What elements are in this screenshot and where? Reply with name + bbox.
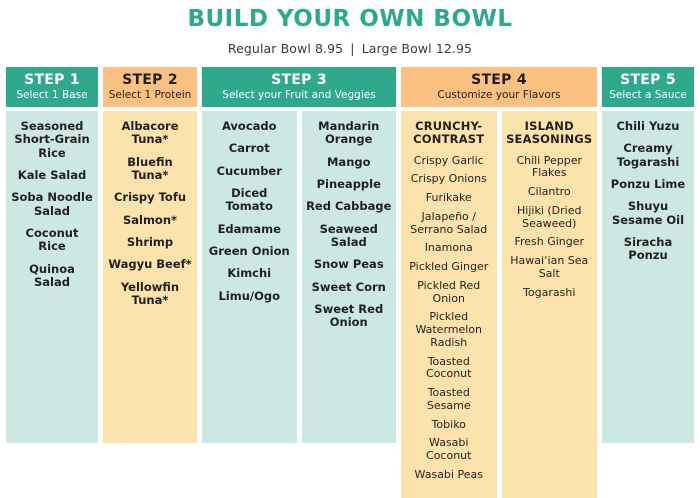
step-4-body: CRUNCHY-CONTRAST Crispy Garlic Crispy On… (401, 111, 597, 497)
list-item[interactable]: Pineapple (306, 178, 393, 191)
subsection-heading: ISLAND SEASONINGS (506, 120, 594, 146)
list-item[interactable]: Toasted Coconut (405, 356, 493, 382)
list-item[interactable]: Crispy Onions (405, 173, 493, 186)
list-item[interactable]: Kimchi (206, 267, 293, 280)
price-separator: | (347, 41, 357, 56)
list-item[interactable]: Pickled Watermelon Radish (405, 311, 493, 349)
step-5-name: STEP 5 (604, 72, 692, 88)
list-item[interactable]: Shuyu Sesame Oil (606, 200, 690, 227)
list-item[interactable]: Snow Peas (306, 258, 393, 271)
list-item[interactable]: Shrimp (107, 236, 193, 249)
list-item[interactable]: Limu/Ogo (206, 290, 293, 303)
list-item[interactable]: Creamy Togarashi (606, 142, 690, 169)
step-4-desc: Customize your Flavors (403, 89, 595, 101)
list-item[interactable]: Siracha Ponzu (606, 236, 690, 263)
step-2-name: STEP 2 (105, 72, 195, 88)
step-3-group-1: Mandarin Orange Mango Pineapple Red Cabb… (302, 111, 397, 443)
step-1-body: Seasoned Short-Grain Rice Kale Salad Sob… (6, 111, 98, 443)
step-header-3: STEP 3 Select your Fruit and Veggies (202, 67, 396, 107)
step-5-body: Chili Yuzu Creamy Togarashi Ponzu Lime S… (602, 111, 694, 443)
step-3-group-0: Avocado Carrot Cucumber Diced Tomato Eda… (202, 111, 297, 443)
list-item[interactable]: Ponzu Lime (606, 178, 690, 191)
step-header-5: STEP 5 Select a Sauce (602, 67, 694, 107)
subsection-heading: CRUNCHY-CONTRAST (405, 120, 493, 146)
list-item[interactable]: Fresh Ginger (506, 236, 594, 249)
list-item[interactable]: Chili Pepper Flakes (506, 155, 594, 181)
step-3-body: Avocado Carrot Cucumber Diced Tomato Eda… (202, 111, 396, 443)
step-3-name: STEP 3 (204, 72, 394, 88)
list-item[interactable]: Cilantro (506, 186, 594, 199)
step-column-3: STEP 3 Select your Fruit and Veggies Avo… (202, 67, 396, 443)
step-2-group-0: Albacore Tuna* Bluefin Tuna* Crispy Tofu… (103, 111, 197, 443)
list-item[interactable]: Toasted Sesame (405, 387, 493, 413)
list-item[interactable]: Pickled Ginger (405, 261, 493, 274)
list-item[interactable]: Wagyu Beef* (107, 258, 193, 271)
list-item[interactable]: Crispy Tofu (107, 191, 193, 204)
list-item[interactable]: Wasabi Coconut (405, 437, 493, 463)
step-column-2: STEP 2 Select 1 Protein Albacore Tuna* B… (103, 67, 197, 443)
step-header-1: STEP 1 Select 1 Base (6, 67, 98, 107)
step-3-desc: Select your Fruit and Veggies (204, 89, 394, 101)
step-1-group-0: Seasoned Short-Grain Rice Kale Salad Sob… (6, 111, 98, 443)
step-header-4: STEP 4 Customize your Flavors (401, 67, 597, 107)
step-5-group-0: Chili Yuzu Creamy Togarashi Ponzu Lime S… (602, 111, 694, 443)
list-item[interactable]: Avocado (206, 120, 293, 133)
list-item[interactable]: Tobiko (405, 419, 493, 432)
list-item[interactable]: Inamona (405, 242, 493, 255)
list-item[interactable]: Sweet Corn (306, 281, 393, 294)
step-4-name: STEP 4 (403, 72, 595, 88)
list-item[interactable]: Mandarin Orange (306, 120, 393, 147)
list-item[interactable]: Green Onion (206, 245, 293, 258)
list-item[interactable]: Coconut Rice (10, 227, 94, 254)
list-item[interactable]: Wasabi Peas (405, 469, 493, 482)
step-column-5: STEP 5 Select a Sauce Chili Yuzu Creamy … (602, 67, 694, 443)
list-item[interactable]: Pickled Red Onion (405, 280, 493, 306)
list-item[interactable]: Mango (306, 156, 393, 169)
step-4-group-island: ISLAND SEASONINGS Chili Pepper Flakes Ci… (502, 111, 598, 497)
list-item[interactable]: Cucumber (206, 165, 293, 178)
list-item[interactable]: Kale Salad (10, 169, 94, 182)
step-5-desc: Select a Sauce (604, 89, 692, 101)
title-block: BUILD YOUR OWN BOWL Regular Bowl 8.95 | … (0, 0, 700, 56)
step-4-group-crunchy: CRUNCHY-CONTRAST Crispy Garlic Crispy On… (401, 111, 497, 497)
step-column-1: STEP 1 Select 1 Base Seasoned Short-Grai… (6, 67, 98, 443)
list-item[interactable]: Edamame (206, 223, 293, 236)
step-2-body: Albacore Tuna* Bluefin Tuna* Crispy Tofu… (103, 111, 197, 443)
step-2-desc: Select 1 Protein (105, 89, 195, 101)
price-regular: Regular Bowl 8.95 (228, 41, 343, 56)
list-item[interactable]: Yellowfin Tuna* (107, 281, 193, 308)
list-item[interactable]: Diced Tomato (206, 187, 293, 214)
page-title: BUILD YOUR OWN BOWL (0, 7, 700, 32)
list-item[interactable]: Albacore Tuna* (107, 120, 193, 147)
step-1-name: STEP 1 (8, 72, 96, 88)
list-item[interactable]: Togarashi (506, 287, 594, 300)
list-item[interactable]: Sweet Red Onion (306, 303, 393, 330)
step-header-2: STEP 2 Select 1 Protein (103, 67, 197, 107)
list-item[interactable]: Salmon* (107, 214, 193, 227)
menu-board: BUILD YOUR OWN BOWL Regular Bowl 8.95 | … (0, 0, 700, 416)
list-item[interactable]: Jalapeño / Serrano Salad (405, 211, 493, 237)
price-large: Large Bowl 12.95 (362, 41, 472, 56)
steps-row: STEP 1 Select 1 Base Seasoned Short-Grai… (6, 67, 694, 498)
step-column-4: STEP 4 Customize your Flavors CRUNCHY-CO… (401, 67, 597, 498)
list-item[interactable]: Crispy Garlic (405, 155, 493, 168)
list-item[interactable]: Hawai‘ian Sea Salt (506, 255, 594, 281)
list-item[interactable]: Hijiki (Dried Seaweed) (506, 205, 594, 231)
pricing-line: Regular Bowl 8.95 | Large Bowl 12.95 (0, 41, 700, 56)
step-1-desc: Select 1 Base (8, 89, 96, 101)
list-item[interactable]: Seasoned Short-Grain Rice (10, 120, 94, 160)
list-item[interactable]: Soba Noodle Salad (10, 191, 94, 218)
list-item[interactable]: Bluefin Tuna* (107, 156, 193, 183)
list-item[interactable]: Seaweed Salad (306, 223, 393, 250)
list-item[interactable]: Red Cabbage (306, 200, 393, 213)
list-item[interactable]: Furikake (405, 192, 493, 205)
list-item[interactable]: Quinoa Salad (10, 263, 94, 290)
list-item[interactable]: Carrot (206, 142, 293, 155)
list-item[interactable]: Chili Yuzu (606, 120, 690, 133)
